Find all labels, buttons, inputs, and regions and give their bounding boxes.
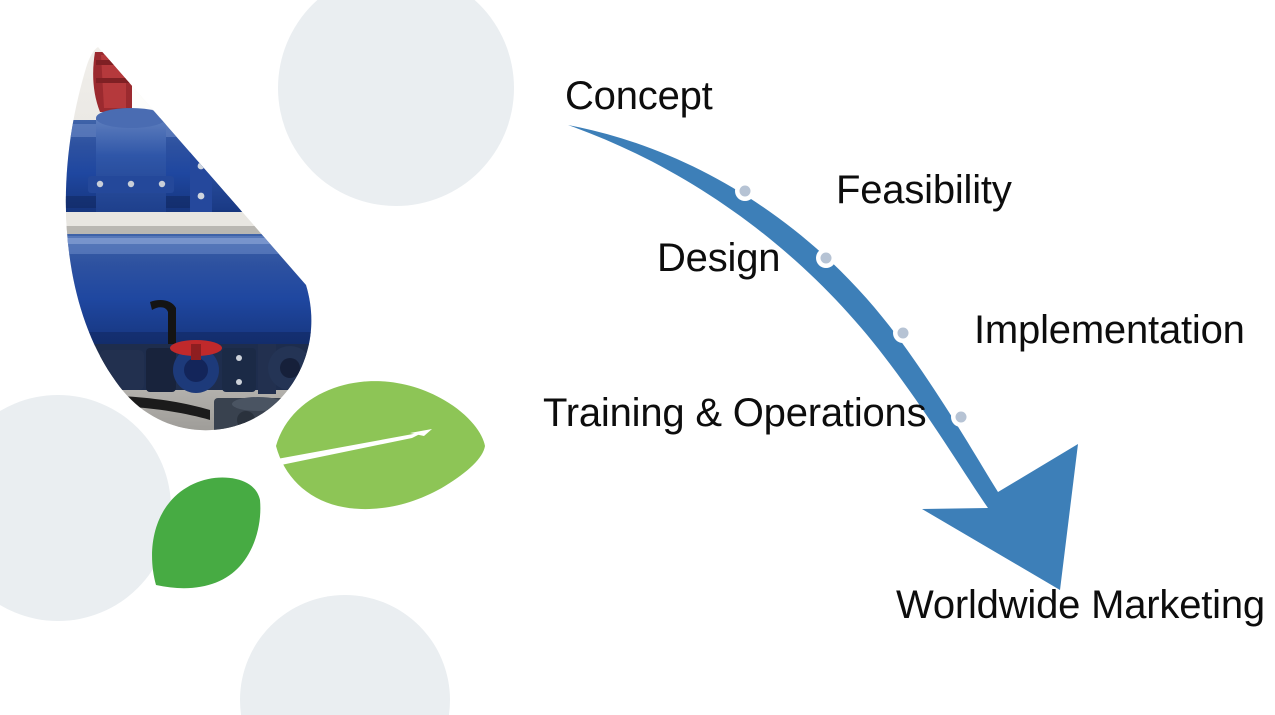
marker-1-core-icon [740, 186, 751, 197]
step-label-design: Design [657, 238, 780, 278]
step-label-feasibility: Feasibility [836, 170, 1012, 210]
step-label-concept: Concept [565, 76, 713, 116]
slide-canvas: Concept Feasibility Design Implementatio… [0, 0, 1275, 715]
step-label-training-operations: Training & Operations [543, 393, 926, 433]
marker-4-core-icon [956, 412, 967, 423]
marker-2-core-icon [821, 253, 832, 264]
step-label-implementation: Implementation [974, 310, 1245, 350]
marker-3-core-icon [898, 328, 909, 339]
step-label-worldwide-marketing: Worldwide Marketing [896, 585, 1265, 625]
